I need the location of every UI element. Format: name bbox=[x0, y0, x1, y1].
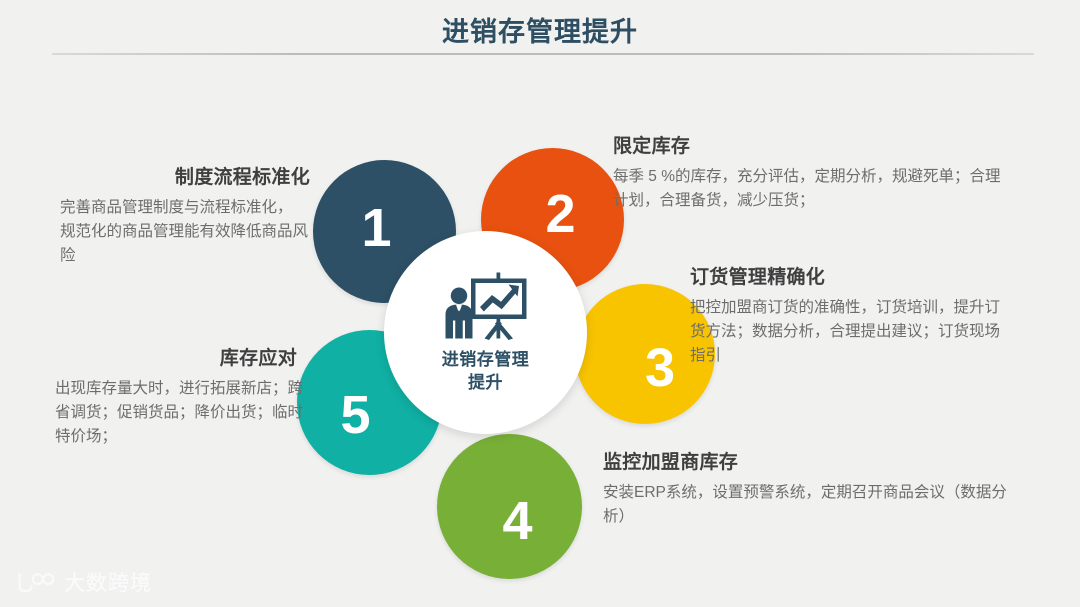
watermark: 大数跨境 bbox=[14, 567, 152, 597]
item-body-3: 把控加盟商订货的准确性，订货培训，提升订货方法；数据分析，合理提出建议；订货现场… bbox=[690, 296, 1015, 368]
item-body-1: 完善商品管理制度与流程标准化， 规范化的商品管理能有效降低商品风险 bbox=[60, 196, 312, 268]
item-heading-3: 订货管理精确化 bbox=[690, 262, 1015, 289]
page-title: 进销存管理提升 bbox=[0, 10, 1080, 49]
hub-label: 进销存管理 提升 bbox=[442, 349, 530, 395]
hub-label-line1: 进销存管理 bbox=[442, 349, 530, 372]
watermark-text: 大数跨境 bbox=[64, 567, 152, 597]
item-body-4: 安装ERP系统，设置预警系统，定期召开商品会议（数据分析） bbox=[603, 481, 1023, 529]
item-body-5: 出现库存量大时，进行拓展新店；跨省调货；促销货品；降价出货；临时特价场； bbox=[55, 377, 305, 449]
item-block-5: 库存应对 出现库存量大时，进行拓展新店；跨省调货；促销货品；降价出货；临时特价场… bbox=[55, 343, 305, 449]
logo-mark-icon bbox=[14, 569, 56, 595]
item-heading-5: 库存应对 bbox=[55, 343, 305, 370]
item-block-4: 监控加盟商库存 安装ERP系统，设置预警系统，定期召开商品会议（数据分析） bbox=[603, 447, 1023, 529]
item-body-2: 每季 5 %的库存，充分评估，定期分析，规避死单；合理计划，合理备货，减少压货； bbox=[613, 165, 1013, 213]
item-heading-1: 制度流程标准化 bbox=[60, 162, 312, 189]
infographic-slide: 进销存管理提升 1 2 3 4 5 bbox=[0, 0, 1080, 607]
petal-circle-4[interactable]: 4 bbox=[437, 434, 582, 579]
center-hub[interactable]: 进销存管理 提升 bbox=[384, 231, 587, 434]
item-block-2: 限定库存 每季 5 %的库存，充分评估，定期分析，规避死单；合理计划，合理备货，… bbox=[613, 131, 1013, 213]
petal-number-5: 5 bbox=[340, 388, 370, 442]
title-divider bbox=[52, 53, 1034, 55]
petal-number-3: 3 bbox=[645, 341, 675, 395]
presenter-chart-icon bbox=[438, 271, 534, 343]
petal-number-1: 1 bbox=[361, 201, 391, 255]
item-block-1: 制度流程标准化 完善商品管理制度与流程标准化， 规范化的商品管理能有效降低商品风… bbox=[60, 162, 312, 268]
item-heading-4: 监控加盟商库存 bbox=[603, 447, 1023, 474]
hub-label-line2: 提升 bbox=[442, 372, 530, 395]
petal-number-4: 4 bbox=[502, 494, 532, 548]
item-heading-2: 限定库存 bbox=[613, 131, 1013, 158]
item-block-3: 订货管理精确化 把控加盟商订货的准确性，订货培训，提升订货方法；数据分析，合理提… bbox=[690, 262, 1015, 368]
petal-number-2: 2 bbox=[545, 187, 575, 241]
